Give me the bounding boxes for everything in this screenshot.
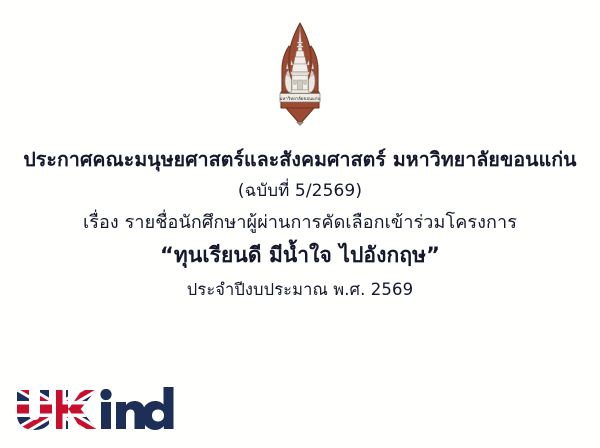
announcement-subject: เรื่อง รายชื่อนักศึกษาผู้ผ่านการคัดเลือก… bbox=[0, 207, 600, 238]
khon-kaen-university-crest-icon: มหาวิทยาลัยขอนแก่น bbox=[266, 18, 334, 126]
announcement-title: ประกาศคณะมนุษยศาสตร์และสังคมศาสตร์ มหาวิ… bbox=[0, 145, 600, 175]
announcement-text-block: ประกาศคณะมนุษยศาสตร์และสังคมศาสตร์ มหาวิ… bbox=[0, 145, 600, 304]
union-jack-fill bbox=[15, 384, 100, 434]
announcement-slide: มหาวิทยาลัยขอนแก่น ประกาศคณะมนุษยศาสตร์แ… bbox=[0, 0, 600, 448]
ukind-logo-icon bbox=[15, 384, 180, 434]
crest-banner-text: มหาวิทยาลัยขอนแก่น bbox=[279, 96, 320, 102]
fiscal-year: ประจำปีงบประมาณ พ.ศ. 2569 bbox=[0, 276, 600, 304]
announcement-issue-number: (ฉบับที่ 5/2569) bbox=[0, 177, 600, 205]
project-name: “ทุนเรียนดี มีน้ำใจ ไปอังกฤษ” bbox=[0, 239, 600, 272]
ukind-logo-container bbox=[15, 384, 180, 434]
crest-container: มหาวิทยาลัยขอนแก่น bbox=[0, 18, 600, 126]
crest-banner: มหาวิทยาลัยขอนแก่น bbox=[279, 94, 320, 103]
ukind-wordmark bbox=[100, 387, 173, 430]
